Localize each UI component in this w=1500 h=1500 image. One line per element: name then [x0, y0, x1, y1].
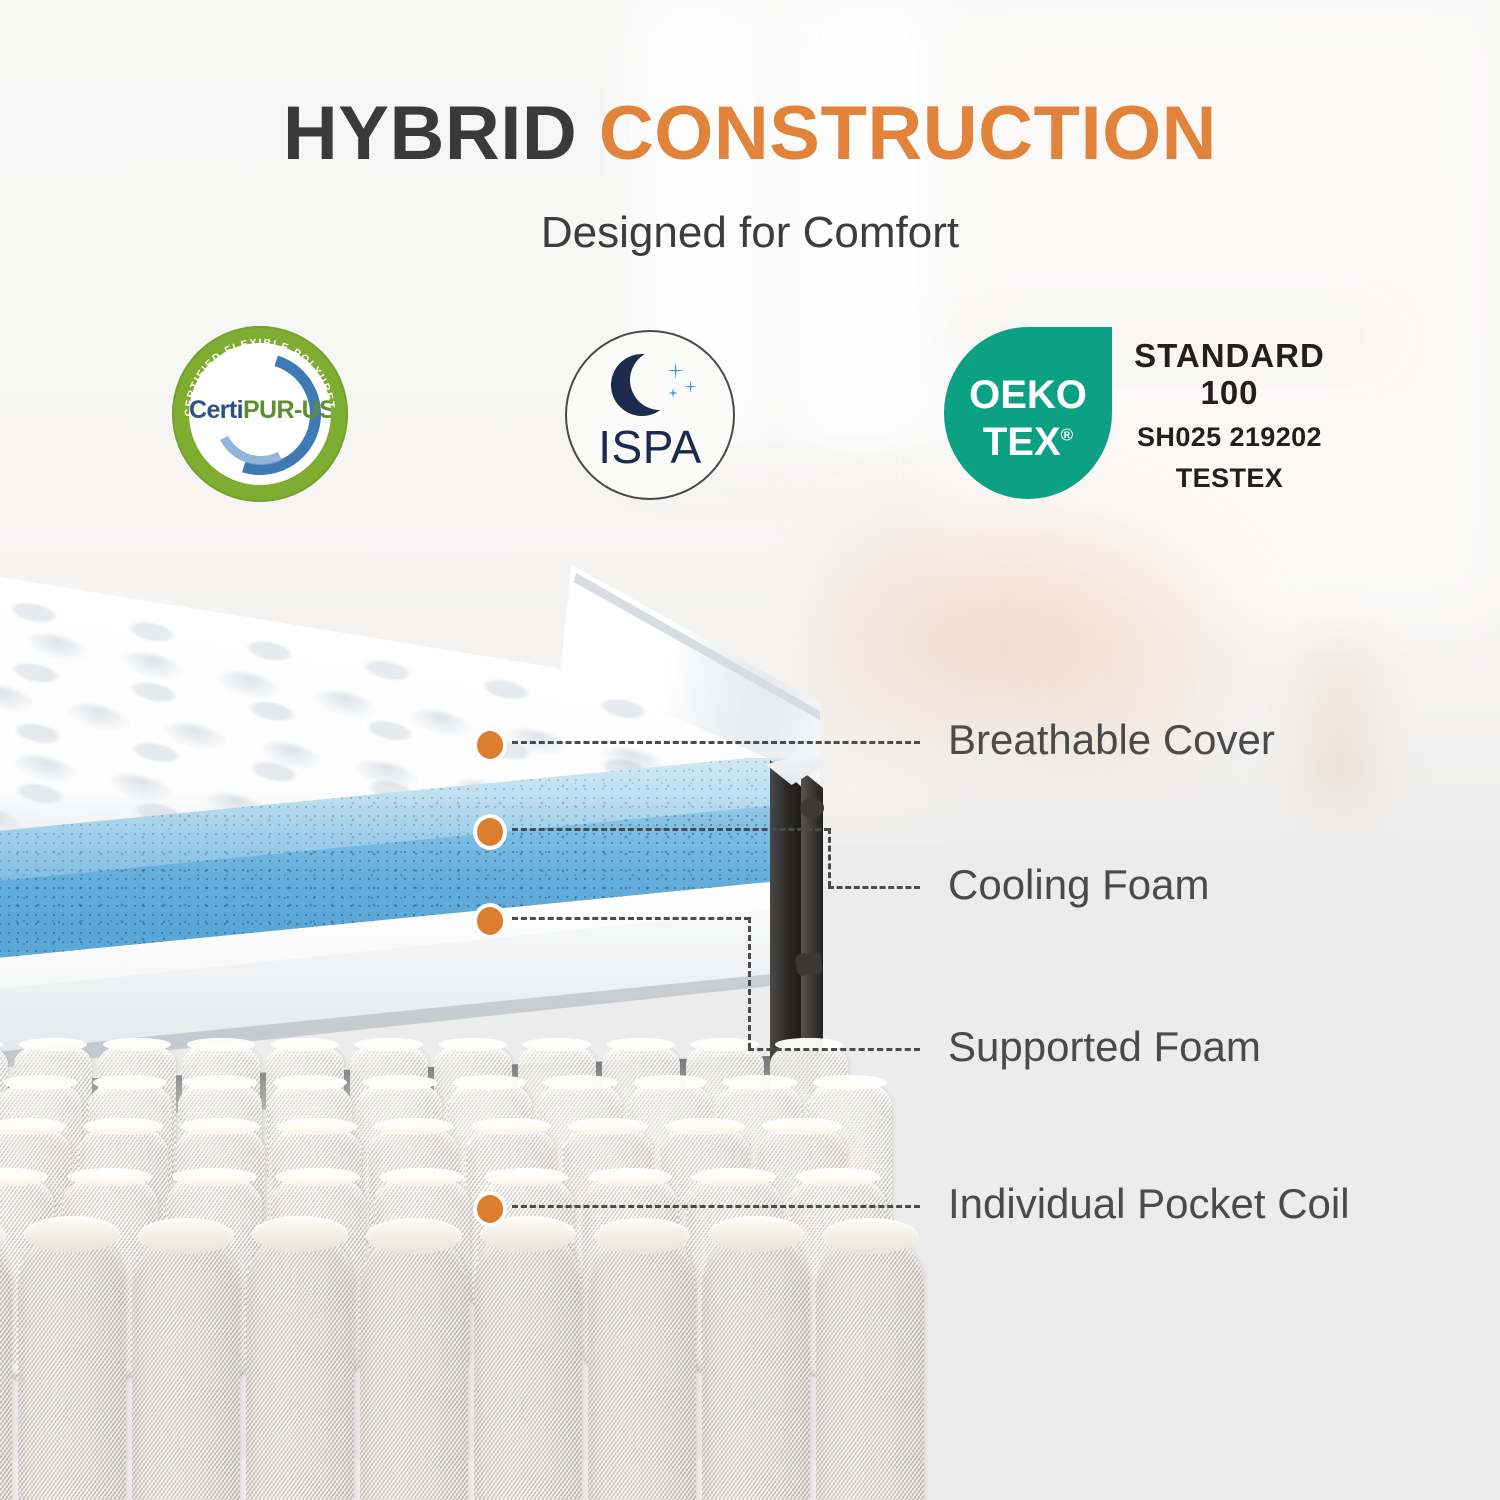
certipur-wordmark-certi: Certi: [189, 396, 243, 424]
callout-line-cooling-foam-seg1: [512, 828, 830, 831]
callout-label-individual-pocket-coil: Individual Pocket Coil: [948, 1183, 1350, 1225]
pocket-coil: [702, 1230, 810, 1500]
callout-line-supported-foam-seg1: [512, 917, 750, 920]
callout-dot-supported-foam[interactable]: [473, 903, 507, 939]
pocket-coil: [474, 1230, 582, 1500]
pocket-coil: [816, 1232, 924, 1500]
certipur-wordmark: CertiPUR-US®: [189, 398, 331, 423]
callout-label-cooling-foam: Cooling Foam: [948, 864, 1209, 906]
certipur-wordmark-purus: PUR-US: [243, 396, 331, 424]
callout-line-supported-foam-seg3: [748, 1048, 920, 1051]
pocket-coil: [132, 1232, 240, 1500]
mattress-pocket-coil-layer: [0, 1025, 875, 1500]
callout-dot-individual-pocket-coil[interactable]: [473, 1191, 507, 1227]
pocket-coil: [588, 1232, 696, 1500]
callout-label-supported-foam: Supported Foam: [948, 1026, 1261, 1068]
callout-label-breathable-cover: Breathable Cover: [948, 719, 1275, 761]
callout-dot-cooling-foam[interactable]: [473, 814, 507, 850]
pocket-coil: [18, 1230, 126, 1500]
callout-line-individual-pocket-coil: [512, 1205, 920, 1208]
callout-dot-breathable-cover[interactable]: [473, 727, 507, 763]
pocket-coil: [0, 1232, 12, 1500]
callout-line-cooling-foam-seg2: [828, 828, 831, 887]
pocket-coil: [360, 1232, 468, 1500]
pocket-coil: [246, 1230, 354, 1500]
callout-line-supported-foam-seg2: [748, 917, 751, 1049]
infographic-canvas: HYBRID CONSTRUCTION Designed for Comfort…: [0, 0, 1500, 1500]
callout-line-cooling-foam-seg3: [828, 886, 920, 889]
callout-line-breathable-cover: [512, 741, 920, 744]
